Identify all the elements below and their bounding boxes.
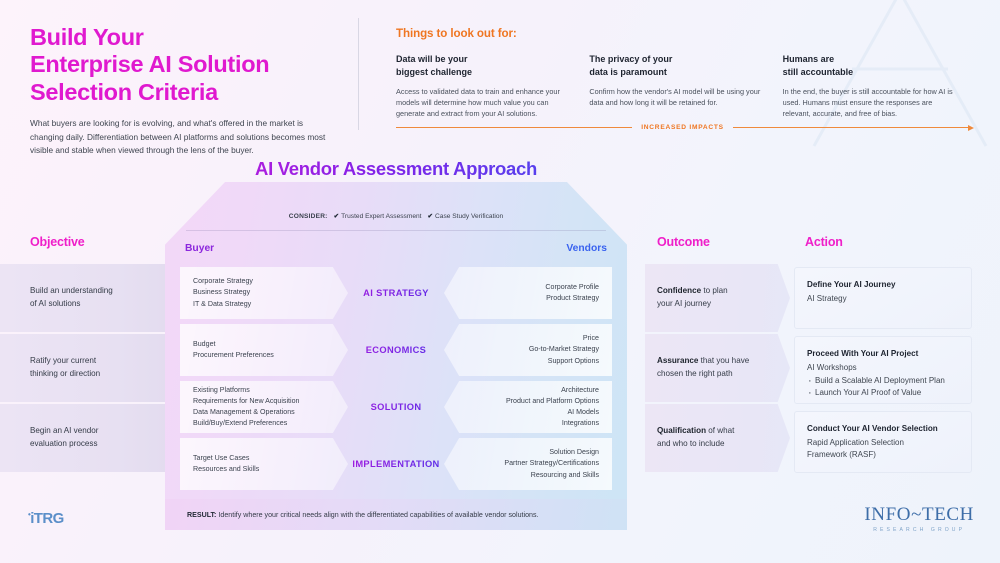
objective-label: Build an understandingof AI solutions <box>0 285 113 310</box>
watch-out-columns: Data will be yourbiggest challenge Acces… <box>396 53 976 120</box>
vendor-items: ArchitectureProduct and Platform Options… <box>506 385 612 430</box>
assessment-rows: Corporate StrategyBusiness StrategyIT & … <box>165 265 627 493</box>
action-detail: Rapid Application SelectionFramework (RA… <box>807 437 959 460</box>
outcome-item: Assurance that you havechosen the right … <box>645 334 790 402</box>
outcome-column: Confidence to planyour AI journey Assura… <box>645 264 797 474</box>
outcome-text: Qualification of whatand who to include <box>645 425 763 450</box>
vendor-chevron: ArchitectureProduct and Platform Options… <box>444 381 612 433</box>
consider-divider <box>186 230 606 231</box>
outcome-strong: Confidence <box>657 286 701 295</box>
assessment-panel-title: AI Vendor Assessment Approach <box>165 158 627 180</box>
buyer-chevron: Corporate StrategyBusiness StrategyIT & … <box>180 267 348 319</box>
vendor-chevron: Solution DesignPartner Strategy/Certific… <box>444 438 612 490</box>
assessment-row: Corporate StrategyBusiness StrategyIT & … <box>165 265 627 321</box>
infographic-page: Build YourEnterprise AI SolutionSelectio… <box>0 0 1000 563</box>
outcome-item: Qualification of whatand who to include <box>645 404 790 472</box>
impacts-line-left <box>396 127 632 128</box>
action-card: Define Your AI Journey AI Strategy <box>794 267 972 329</box>
action-column-heading: Action <box>805 235 843 249</box>
watch-out-section: Things to look out for: Data will be you… <box>396 27 976 120</box>
stage-label: ECONOMICS <box>348 345 444 355</box>
impacts-label: INCREASED IMPACTS <box>632 124 733 131</box>
buyer-items: Existing PlatformsRequirements for New A… <box>180 385 299 430</box>
outcome-item: Confidence to planyour AI journey <box>645 264 790 332</box>
vendor-chevron: PriceGo-to-Market StrategySupport Option… <box>444 324 612 376</box>
vendor-items: PriceGo-to-Market StrategySupport Option… <box>529 333 612 367</box>
action-detail: AI Strategy <box>807 293 959 305</box>
stage-label: SOLUTION <box>348 402 444 412</box>
info-tech-logo: INFO~TECH RESEARCH GROUP <box>864 505 974 533</box>
result-text: Identify where your critical needs align… <box>218 511 538 519</box>
vendor-chevron: Corporate ProfileProduct Strategy <box>444 267 612 319</box>
action-title: Define Your AI Journey <box>807 279 959 290</box>
buyer-vendor-labels: Buyer Vendors <box>165 243 627 254</box>
arrow-right-icon <box>968 125 974 131</box>
action-card: Proceed With Your AI Project AI Workshop… <box>794 336 972 404</box>
buyer-chevron: Target Use CasesResources and Skills <box>180 438 348 490</box>
result-bar: RESULT: Identify where your critical nee… <box>165 499 627 530</box>
objective-label: Begin an AI vendorevaluation process <box>0 425 98 450</box>
assessment-row: BudgetProcurement Preferences ECONOMICS … <box>165 322 627 378</box>
objective-item: Ratify your currentthinking or direction <box>0 334 166 402</box>
consider-label: CONSIDER: <box>289 213 328 220</box>
stage-label: AI STRATEGY <box>348 288 444 298</box>
increased-impacts-arrow: INCREASED IMPACTS <box>396 124 974 131</box>
buyer-items: Corporate StrategyBusiness StrategyIT & … <box>180 276 253 310</box>
header: Build YourEnterprise AI SolutionSelectio… <box>0 0 1000 150</box>
watch-out-heading: The privacy of yourdata is paramount <box>589 53 782 79</box>
impacts-line-right <box>733 127 969 128</box>
objective-column-heading: Objective <box>30 235 84 249</box>
watch-out-body: Access to validated data to train and en… <box>396 86 568 120</box>
vendor-items: Corporate ProfileProduct Strategy <box>545 282 612 304</box>
assessment-row: Existing PlatformsRequirements for New A… <box>165 379 627 435</box>
objective-item: Begin an AI vendorevaluation process <box>0 404 166 472</box>
outcome-strong: Assurance <box>657 356 698 365</box>
info-tech-logo-name: INFO~TECH <box>864 505 974 525</box>
itrg-logo: •iTRG <box>28 511 64 526</box>
watch-out-heading: Humans arestill accountable <box>783 53 976 79</box>
action-bullets: Build a Scalable AI Deployment Plan Laun… <box>807 375 959 398</box>
buyer-items: Target Use CasesResources and Skills <box>180 453 259 475</box>
action-bullet: Launch Your AI Proof of Value <box>807 387 959 399</box>
vendors-label: Vendors <box>566 243 607 254</box>
outcome-column-heading: Outcome <box>657 235 710 249</box>
check-icon: ✔ <box>334 213 340 220</box>
check-icon: ✔ <box>428 213 434 220</box>
watch-out-title: Things to look out for: <box>396 27 976 40</box>
action-title: Proceed With Your AI Project <box>807 348 959 359</box>
watch-out-body: In the end, the buyer is still accountab… <box>783 86 955 120</box>
objective-item: Build an understandingof AI solutions <box>0 264 166 332</box>
watch-out-item: The privacy of yourdata is paramount Con… <box>589 53 782 120</box>
outcome-text: Confidence to planyour AI journey <box>645 285 763 310</box>
buyer-items: BudgetProcurement Preferences <box>180 339 274 361</box>
stage-label: IMPLEMENTATION <box>348 459 444 469</box>
watch-out-heading: Data will be yourbiggest challenge <box>396 53 589 79</box>
action-column: Define Your AI Journey AI Strategy Proce… <box>794 267 974 480</box>
info-tech-logo-tagline: RESEARCH GROUP <box>864 527 974 533</box>
result-text-wrap: RESULT: Identify where your critical nee… <box>165 511 538 519</box>
action-detail: AI Workshops <box>807 362 959 374</box>
action-card: Conduct Your AI Vendor Selection Rapid A… <box>794 411 972 473</box>
watch-out-item: Humans arestill accountable In the end, … <box>783 53 976 120</box>
action-title: Conduct Your AI Vendor Selection <box>807 423 959 434</box>
outcome-strong: Qualification <box>657 426 706 435</box>
objective-label: Ratify your currentthinking or direction <box>0 355 100 380</box>
vendor-items: Solution DesignPartner Strategy/Certific… <box>504 447 612 481</box>
itrg-logo-text: iTRG <box>30 510 63 527</box>
outcome-text: Assurance that you havechosen the right … <box>645 355 763 380</box>
consider-item-1: Trusted Expert Assessment <box>341 213 421 220</box>
action-bullet: Build a Scalable AI Deployment Plan <box>807 375 959 387</box>
header-divider <box>358 18 359 130</box>
header-left: Build YourEnterprise AI SolutionSelectio… <box>30 24 335 158</box>
buyer-chevron: Existing PlatformsRequirements for New A… <box>180 381 348 433</box>
objective-column: Build an understandingof AI solutions Ra… <box>0 264 166 474</box>
watch-out-item: Data will be yourbiggest challenge Acces… <box>396 53 589 120</box>
result-label: RESULT: <box>187 511 216 519</box>
page-title: Build YourEnterprise AI SolutionSelectio… <box>30 24 335 106</box>
assessment-row: Target Use CasesResources and Skills IMP… <box>165 436 627 492</box>
page-subtitle: What buyers are looking for is evolving,… <box>30 117 335 157</box>
buyer-label: Buyer <box>185 243 214 254</box>
buyer-chevron: BudgetProcurement Preferences <box>180 324 348 376</box>
consider-item-2: Case Study Verification <box>435 213 503 220</box>
watch-out-body: Confirm how the vendor's AI model will b… <box>589 86 761 109</box>
consider-row: CONSIDER:✔Trusted Expert Assessment✔Case… <box>165 212 627 220</box>
